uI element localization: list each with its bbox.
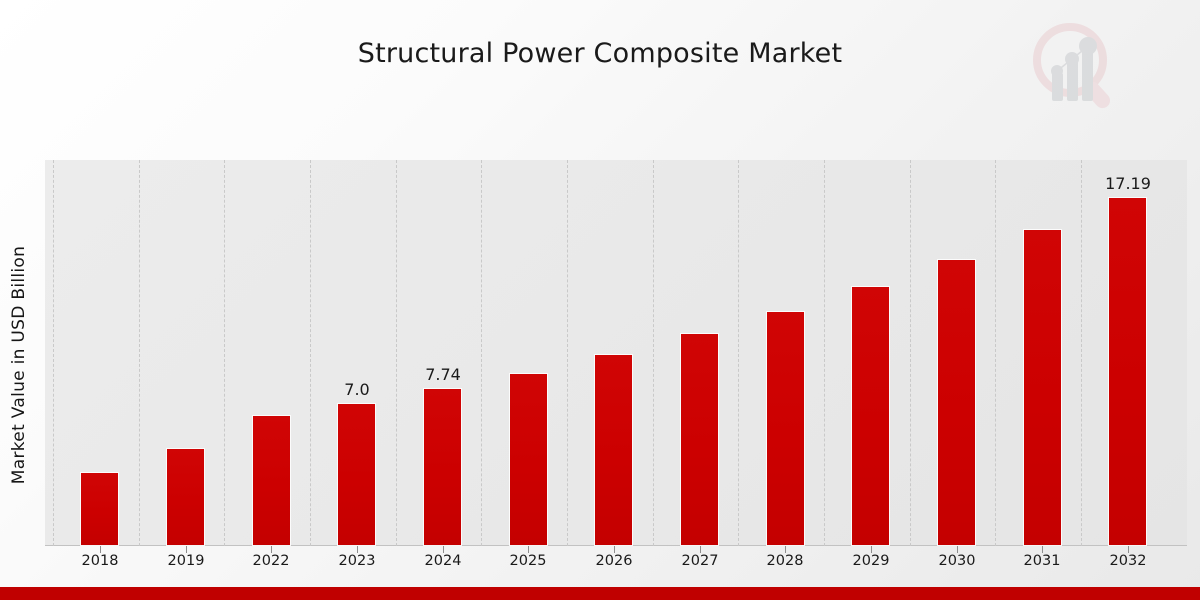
bar-2032[interactable] [1109, 198, 1146, 545]
bar-value-label-2024: 7.74 [403, 365, 483, 384]
x-axis-label-2032: 2032 [1088, 553, 1168, 569]
gridline [53, 160, 54, 546]
x-axis-label-2026: 2026 [574, 553, 654, 569]
x-axis-label-2028: 2028 [745, 553, 825, 569]
x-axis-tick [1128, 546, 1129, 553]
x-axis-tick [957, 546, 958, 553]
x-axis-tick [100, 546, 101, 553]
bar-2026[interactable] [595, 355, 632, 545]
bar-2018[interactable] [81, 473, 118, 545]
x-axis-tick [700, 546, 701, 553]
gridline [310, 160, 311, 546]
gridline [1081, 160, 1082, 546]
x-axis-tick [443, 546, 444, 553]
gridline [738, 160, 739, 546]
x-axis-label-2019: 2019 [146, 553, 226, 569]
x-axis-label-2029: 2029 [831, 553, 911, 569]
x-axis-tick [785, 546, 786, 553]
bar-2025[interactable] [510, 374, 547, 545]
bar-2028[interactable] [767, 312, 804, 545]
y-axis-title: Market Value in USD Billion [9, 165, 29, 565]
x-axis-label-2023: 2023 [317, 553, 397, 569]
page-title: Structural Power Composite Market [0, 38, 1200, 69]
gridline [824, 160, 825, 546]
gridline [653, 160, 654, 546]
bar-2024[interactable] [424, 389, 461, 545]
gridline [567, 160, 568, 546]
x-axis-line [45, 545, 1187, 546]
x-axis-label-2018: 2018 [60, 553, 140, 569]
bar-2027[interactable] [681, 334, 718, 545]
footer-accent-bar [0, 587, 1200, 600]
x-axis-label-2030: 2030 [917, 553, 997, 569]
bar-2031[interactable] [1024, 230, 1061, 545]
gridline [396, 160, 397, 546]
x-axis-label-2024: 2024 [403, 553, 483, 569]
x-axis-label-2025: 2025 [488, 553, 568, 569]
x-axis-tick [357, 546, 358, 553]
x-axis-tick [1042, 546, 1043, 553]
x-axis-tick [614, 546, 615, 553]
gridline [224, 160, 225, 546]
gridline [139, 160, 140, 546]
x-axis-tick [528, 546, 529, 553]
bar-2023[interactable] [338, 404, 375, 545]
x-axis-tick [271, 546, 272, 553]
bar-value-label-2023: 7.0 [317, 380, 397, 399]
gridline [910, 160, 911, 546]
bar-2029[interactable] [852, 287, 889, 545]
x-axis-label-2022: 2022 [231, 553, 311, 569]
x-axis-label-2031: 2031 [1002, 553, 1082, 569]
bar-2019[interactable] [167, 449, 204, 545]
gridline [481, 160, 482, 546]
bar-value-label-2032: 17.19 [1088, 174, 1168, 193]
bar-2030[interactable] [938, 260, 975, 545]
x-axis-tick [871, 546, 872, 553]
bar-2022[interactable] [253, 416, 290, 545]
x-axis-label-2027: 2027 [660, 553, 740, 569]
x-axis-tick [186, 546, 187, 553]
gridline [995, 160, 996, 546]
